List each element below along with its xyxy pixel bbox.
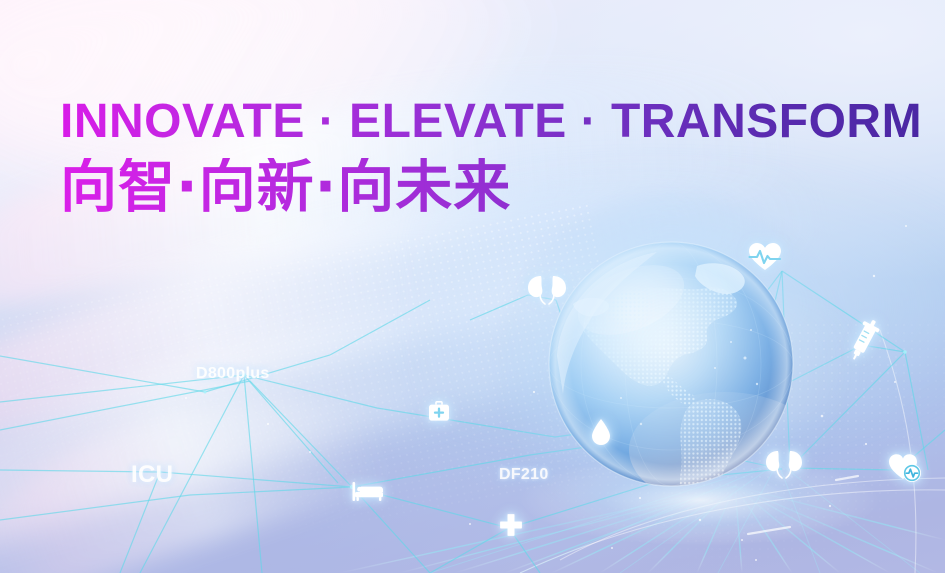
sparkle-particles: [0, 0, 945, 573]
hero-banner: INNOVATE · ELEVATE · TRANSFORM 向智·向新·向未来…: [0, 0, 945, 573]
